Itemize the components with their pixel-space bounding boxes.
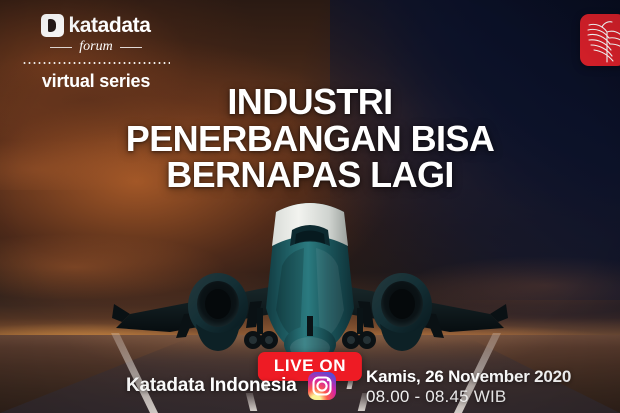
- headline: INDUSTRI PENERBANGAN BISA BERNAPAS LAGI: [0, 84, 620, 194]
- footer-channel-name: Katadata Indonesia: [126, 375, 297, 397]
- brand-sub: forum: [79, 40, 112, 54]
- instagram-icon: [307, 371, 337, 401]
- event-time: 08.00 - 08.45 WIB: [366, 387, 571, 407]
- poster-canvas: katadata forum virtual series: [0, 0, 620, 413]
- rule-left: [50, 47, 72, 48]
- logo-forum-row: forum: [22, 40, 170, 54]
- footer-bar: Katadata Indonesia Kam: [0, 369, 620, 411]
- footer-schedule: Kamis, 26 November 2020 08.00 - 08.45 WI…: [366, 367, 571, 407]
- garuda-emblem-icon: [580, 14, 620, 66]
- logo-row: katadata: [22, 14, 170, 37]
- headline-line-2: PENERBANGAN BISA: [12, 121, 608, 158]
- katadata-forum-logo: katadata forum virtual series: [22, 14, 170, 90]
- rule-right: [120, 47, 142, 48]
- brand-name: katadata: [68, 15, 150, 36]
- katadata-d-mark-icon: [41, 14, 64, 37]
- garuda-emblem-badge: [580, 14, 620, 66]
- event-date: Kamis, 26 November 2020: [366, 367, 571, 387]
- tagline: virtual series: [22, 72, 170, 90]
- headline-line-3: BERNAPAS LAGI: [12, 157, 608, 194]
- dotted-divider: [22, 62, 170, 64]
- airplane-illustration: [110, 196, 510, 368]
